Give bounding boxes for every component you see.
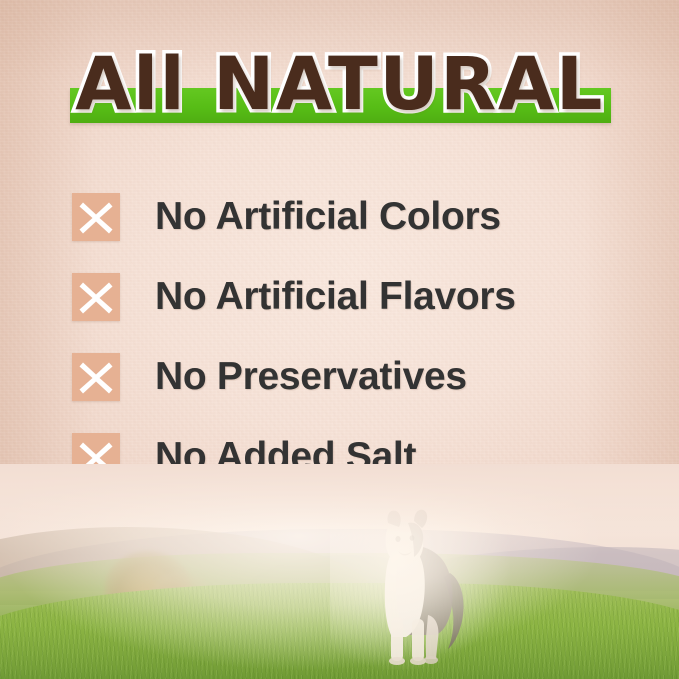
x-mark-icon: [72, 193, 120, 241]
claim-label: No Preservatives: [155, 355, 467, 399]
list-item: No Artificial Flavors: [72, 257, 632, 337]
claim-label: No Artificial Colors: [155, 195, 501, 239]
landscape-photo: [0, 464, 679, 679]
x-mark-icon: [72, 353, 120, 401]
list-item: No Preservatives: [72, 337, 632, 417]
all-natural-poster: All NATURAL No Artificial Colors No Arti…: [0, 0, 679, 679]
header-banner: All NATURAL: [0, 46, 679, 128]
foreground-grass-knoll: [0, 583, 679, 679]
grass-texture: [0, 583, 679, 679]
list-item: No Artificial Colors: [72, 177, 632, 257]
page-title: All NATURAL: [0, 46, 679, 124]
x-mark-icon: [72, 273, 120, 321]
claim-label: No Artificial Flavors: [155, 275, 516, 319]
dog-silhouette: [358, 509, 478, 667]
claims-list: No Artificial Colors No Artificial Flavo…: [72, 177, 632, 497]
